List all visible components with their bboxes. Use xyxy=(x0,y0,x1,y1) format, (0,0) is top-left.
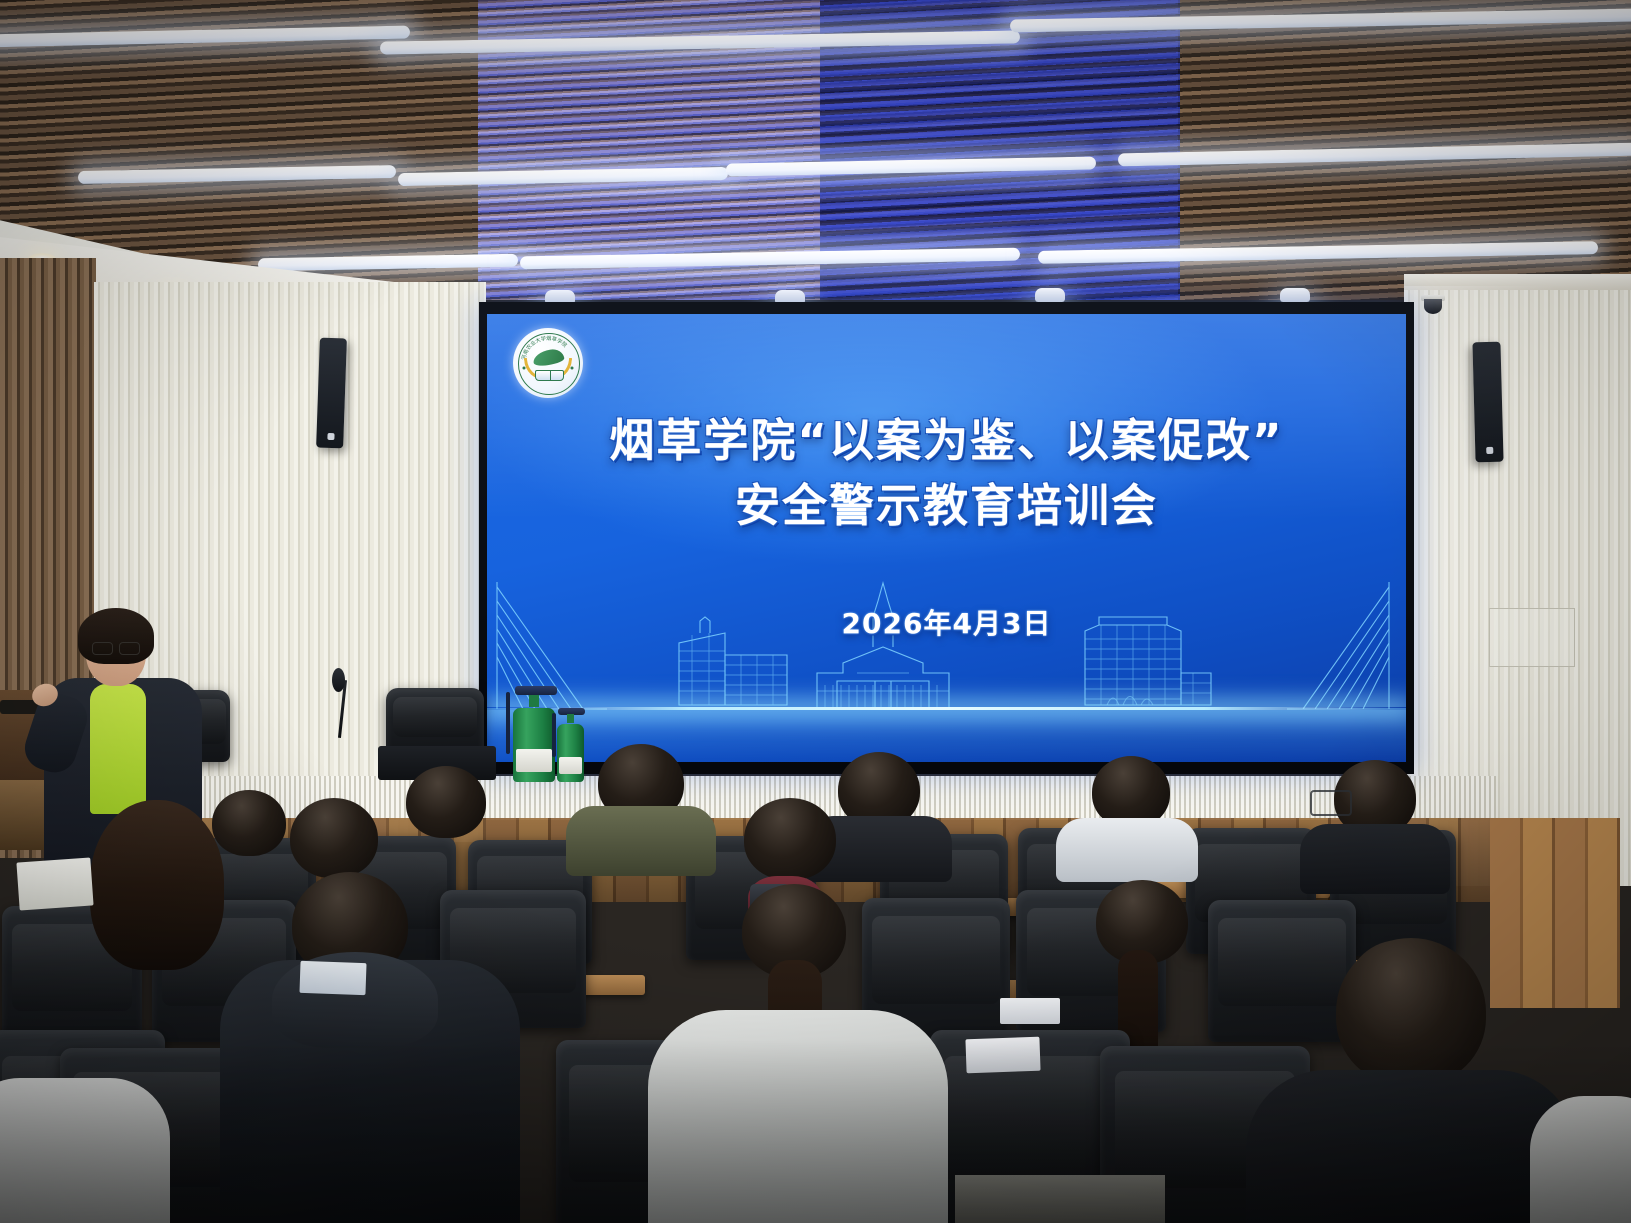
speaker-indicator xyxy=(1486,447,1493,454)
paper-document xyxy=(16,857,93,910)
presenter-glasses xyxy=(92,642,140,653)
attendee-torso xyxy=(1300,824,1450,894)
screen-spotlight xyxy=(1280,288,1310,302)
slide-title-line-1: 烟草学院“以案为鉴、以案促改” xyxy=(487,410,1406,472)
attendee-head xyxy=(290,798,378,878)
paper-document xyxy=(965,1037,1040,1074)
speaker-indicator xyxy=(327,433,334,440)
extinguisher-hose xyxy=(552,713,556,757)
presenter-hair xyxy=(78,608,154,664)
attendee-torso xyxy=(1056,818,1198,882)
attendee-torso xyxy=(1246,1070,1576,1223)
paper-document xyxy=(299,961,366,995)
wall-trim xyxy=(1404,274,1631,290)
attendee-light-coat xyxy=(0,1078,170,1223)
attendee-light-coat xyxy=(648,1010,948,1223)
paper-document xyxy=(1000,998,1060,1024)
dome-security-camera xyxy=(1421,295,1445,317)
fire-extinguisher-large xyxy=(513,686,555,782)
attendee-glasses xyxy=(1310,790,1352,816)
column-speaker-left xyxy=(316,338,347,449)
extinguisher-label xyxy=(559,757,582,774)
auditorium-seat xyxy=(1208,900,1356,1042)
wall-access-panel xyxy=(1489,608,1575,667)
glasses-lens-right xyxy=(119,642,140,655)
presenter-top xyxy=(90,684,146,814)
school-emblem-circular-icon: 河南农业大学烟草学院 xyxy=(513,328,583,398)
camera-dome xyxy=(1424,299,1442,314)
extinguisher-handle xyxy=(515,686,557,695)
extinguisher-label xyxy=(516,749,551,771)
attendee-hair-long xyxy=(90,800,224,970)
column-speaker-right xyxy=(1472,342,1503,463)
emblem-book xyxy=(535,370,564,381)
attendee-torso xyxy=(566,806,716,876)
gooseneck-microphone-capsule xyxy=(332,668,345,692)
extinguisher-body xyxy=(557,724,584,782)
extinguisher-neck xyxy=(529,695,539,707)
presentation-screen[interactable]: 河南农业大学烟草学院 xyxy=(487,314,1406,762)
wood-slat-ceiling xyxy=(0,0,1631,300)
attendee-head xyxy=(744,798,836,880)
screen-spotlight xyxy=(1035,288,1065,302)
extinguisher-hose xyxy=(506,692,510,754)
attendee-head xyxy=(1336,938,1486,1086)
attendee-light-sleeve xyxy=(1530,1096,1631,1223)
slide-title-line-2: 安全警示教育培训会 xyxy=(487,472,1406,540)
floor-aisle xyxy=(955,1175,1165,1223)
glasses-lens-left xyxy=(92,642,113,655)
wood-wainscot-right xyxy=(1490,818,1620,1008)
slide-date: 2026年4月3日 xyxy=(487,602,1406,642)
attendee-head xyxy=(406,766,486,838)
fire-extinguisher-small xyxy=(557,708,584,782)
presider-chair xyxy=(386,688,484,754)
slide-title-block: 烟草学院“以案为鉴、以案促改” 安全警示教育培训会 xyxy=(487,410,1406,540)
extinguisher-body xyxy=(513,708,555,782)
screenshot-root: 河南农业大学烟草学院 xyxy=(0,0,1631,1223)
extinguisher-neck xyxy=(567,714,573,723)
attendee-head xyxy=(212,790,286,856)
